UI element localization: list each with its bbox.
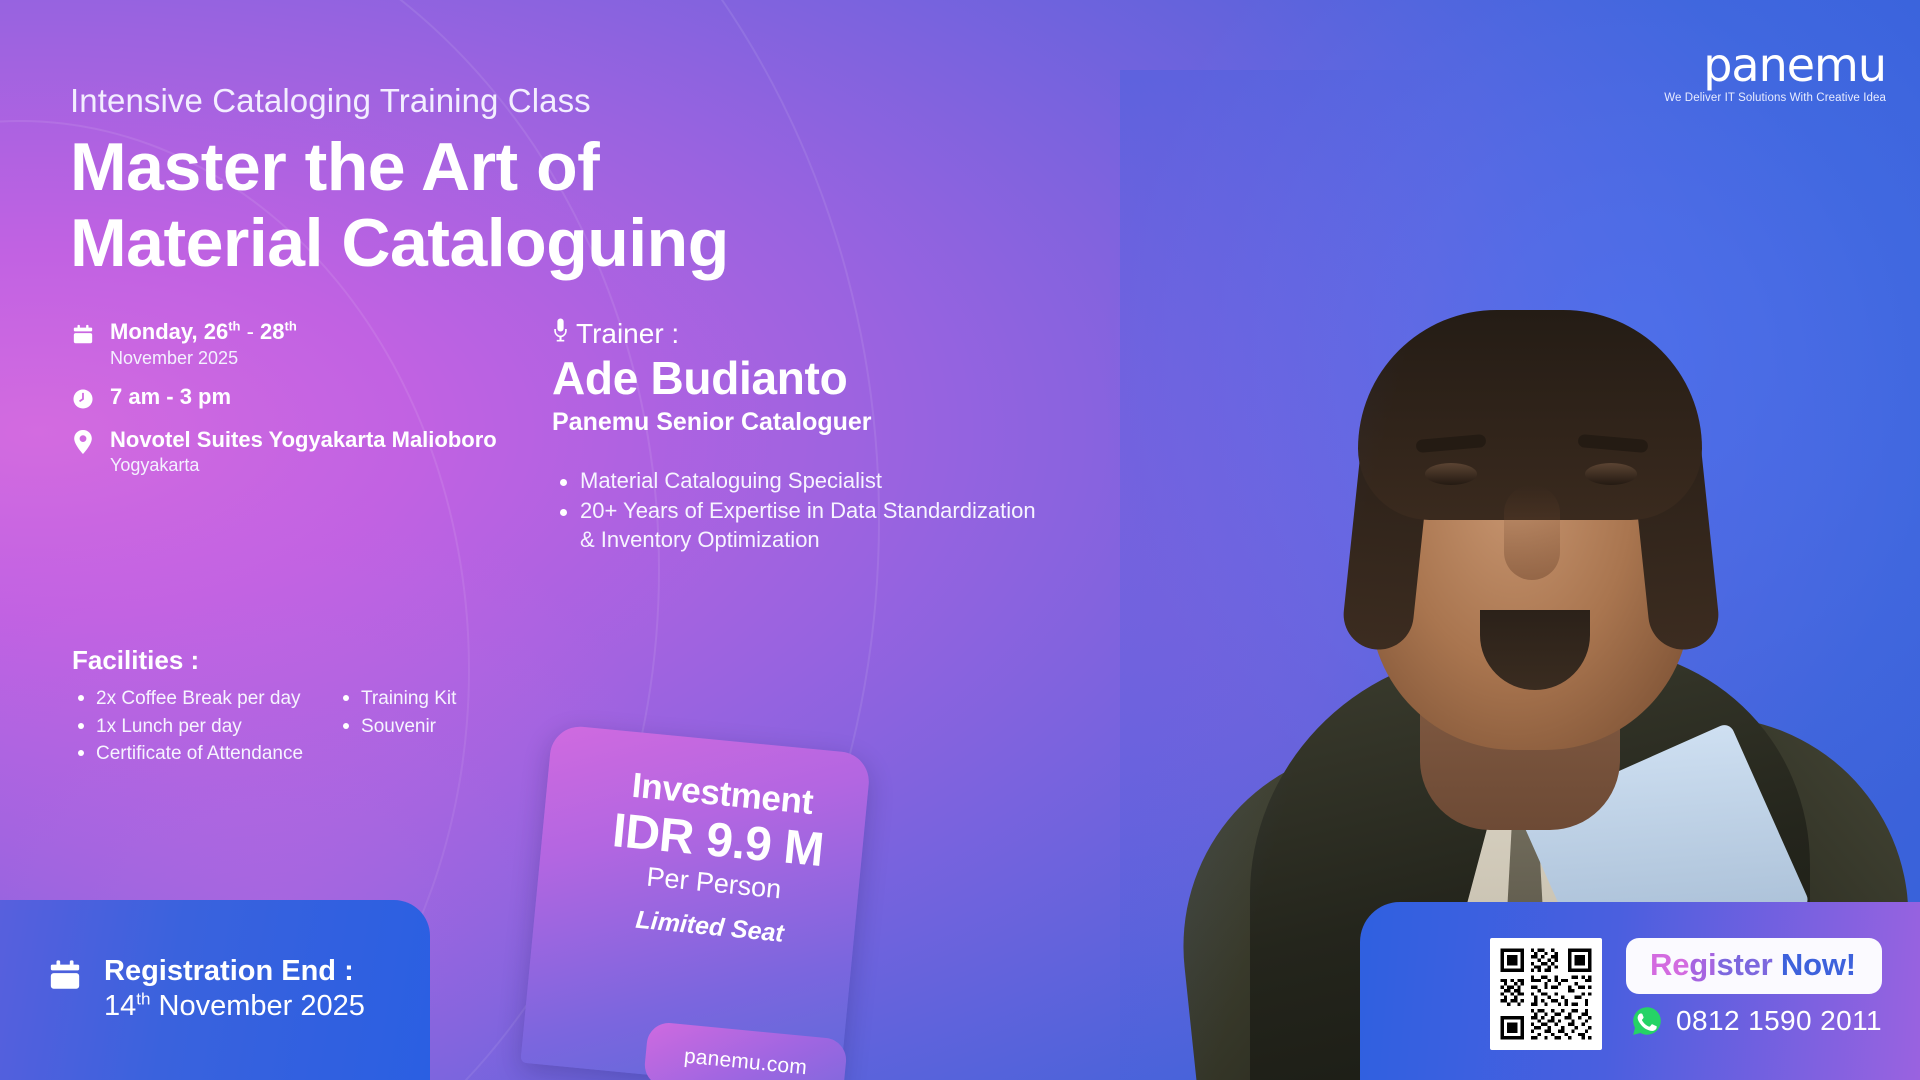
headline-block: Intensive Cataloging Training Class Mast… [70, 83, 729, 282]
venue-main: Novotel Suites Yogyakarta Malioboro [110, 426, 497, 454]
registration-date: 14th November 2025 [104, 989, 365, 1024]
cta-content: Register Now! 0812 1590 2011 [1490, 938, 1882, 1050]
clock-icon [70, 383, 96, 413]
registration-title: Registration End : [104, 955, 365, 987]
detail-row-time: 7 am - 3 pm [70, 383, 540, 413]
logo-tagline: We Deliver IT Solutions With Creative Id… [1664, 92, 1886, 104]
registration-content: Registration End : 14th November 2025 [48, 955, 365, 1024]
panemu-logo: panemu We Deliver IT Solutions With Crea… [1664, 42, 1886, 104]
trainer-label: Trainer : [576, 318, 679, 350]
detail-row-date: Monday, 26th - 28th November 2025 [70, 318, 540, 370]
list-item: Training Kit [337, 685, 456, 713]
date-prefix: Monday, 26 [110, 319, 228, 344]
list-item: 2x Coffee Break per day [72, 685, 303, 713]
date-dash: - [247, 319, 254, 344]
register-text-part-2: gi [1689, 947, 1716, 982]
page-title: Master the Art of Material Cataloguing [70, 129, 729, 281]
facilities-column-2: Training Kit Souvenir [337, 685, 456, 768]
trainer-name: Ade Budianto [552, 354, 1072, 404]
registration-day: 14 [104, 990, 136, 1022]
trainer-role: Panemu Senior Cataloguer [552, 408, 1072, 437]
calendar-icon [70, 318, 96, 348]
promo-poster: panemu We Deliver IT Solutions With Crea… [0, 0, 1920, 1080]
trainer-label-row: Trainer : [552, 318, 1072, 350]
registration-ordinal: th [136, 990, 150, 1009]
detail-row-venue: Novotel Suites Yogyakarta Malioboro Yogy… [70, 426, 540, 478]
location-pin-icon [70, 426, 96, 456]
date-sub: November 2025 [110, 347, 297, 370]
logo-wordmark: panemu [1664, 42, 1886, 88]
register-now-button[interactable]: Register Now! [1626, 938, 1882, 994]
microphone-icon [552, 318, 569, 350]
title-line-2: Material Cataloguing [70, 205, 729, 281]
trainer-highlights: Material Cataloguing Specialist 20+ Year… [552, 467, 1072, 525]
register-text-part-3: ster [1716, 947, 1772, 982]
calendar-icon [48, 955, 86, 998]
list-item: 1x Lunch per day [72, 713, 303, 741]
date-mid: 28 [254, 319, 285, 344]
whatsapp-contact[interactable]: 0812 1590 2011 [1626, 1004, 1882, 1038]
time-main: 7 am - 3 pm [110, 383, 231, 411]
date-ordinal-1: th [228, 319, 240, 334]
website-url: panemu.com [683, 1045, 808, 1080]
venue-sub: Yogyakarta [110, 454, 497, 477]
registration-month-year: November 2025 [150, 990, 364, 1022]
event-details: Monday, 26th - 28th November 2025 7 am -… [70, 318, 540, 491]
qr-code-icon[interactable] [1490, 938, 1602, 1050]
date-ordinal-2: th [285, 319, 297, 334]
register-text-part-1: Re [1650, 947, 1689, 982]
highlight-line-a: 20+ Years of Expertise in Data Standardi… [580, 498, 1036, 523]
list-item: Material Cataloguing Specialist [552, 467, 1072, 495]
whatsapp-number: 0812 1590 2011 [1676, 1005, 1882, 1037]
register-text-part-4: Now! [1773, 947, 1856, 982]
highlight-line-b: & Inventory Optimization [552, 526, 1072, 554]
facilities-column-1: 2x Coffee Break per day 1x Lunch per day… [72, 685, 303, 768]
list-item: 20+ Years of Expertise in Data Standardi… [552, 497, 1072, 525]
title-line-1: Master the Art of [70, 129, 729, 205]
list-item: Souvenir [337, 713, 456, 741]
eyebrow-text: Intensive Cataloging Training Class [70, 83, 729, 119]
facilities-title: Facilities : [72, 645, 542, 676]
list-item: Certificate of Attendance [72, 740, 303, 768]
trainer-block: Trainer : Ade Budianto Panemu Senior Cat… [552, 318, 1072, 554]
investment-card-content: Investment IDR 9.9 M Per Person Limited … [579, 762, 854, 955]
facilities-block: Facilities : 2x Coffee Break per day 1x … [72, 645, 542, 768]
date-main: Monday, 26th - 28th [110, 318, 297, 346]
whatsapp-icon [1630, 1004, 1664, 1038]
